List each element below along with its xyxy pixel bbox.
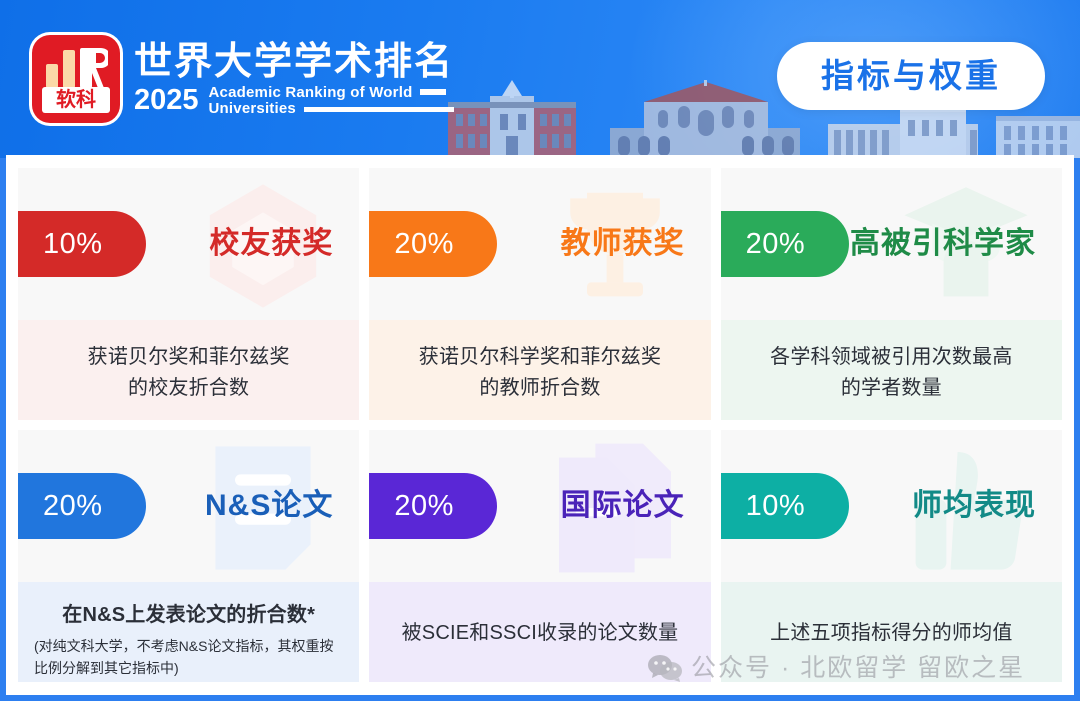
card-description: 各学科领域被引用次数最高 的学者数量 [770,342,1012,404]
weight-pill: 10% [18,211,146,277]
card-description-area: 各学科领域被引用次数最高 的学者数量 [721,320,1062,420]
indicator-card-faculty-award[interactable]: 20% 教师获奖 获诺贝尔科学奖和菲尔兹奖 的教师折合数 [369,168,710,420]
weight-pill: 20% [721,211,849,277]
card-header: 20% 高被引科学家 [721,168,1062,320]
card-description: 获诺贝尔奖和菲尔兹奖 的校友折合数 [88,342,290,404]
bottom-edge [0,695,1080,701]
logo-cn-text: 软科 [42,87,110,113]
card-description-area: 在N&S上发表论文的折合数* (对纯文科大学，不考虑N&S论文指标，其权重按比例… [18,582,359,682]
card-title: 教师获奖 [561,226,685,262]
brand-subtitle-line1: Academic Ranking of World [209,84,413,101]
card-description-area: 获诺贝尔科学奖和菲尔兹奖 的教师折合数 [369,320,710,420]
content-panel: 10% 校友获奖 获诺贝尔奖和菲尔兹奖 的校友折合数 20% [6,155,1074,695]
indicator-card-highly-cited[interactable]: 20% 高被引科学家 各学科领域被引用次数最高 的学者数量 [721,168,1062,420]
card-title: 高被引科学家 [850,226,1036,262]
brand-title-cn: 世界大学学术排名 [134,41,454,83]
card-header: 10% 校友获奖 [18,168,359,320]
weight-pill: 20% [369,211,497,277]
card-description-area: 获诺贝尔奖和菲尔兹奖 的校友折合数 [18,320,359,420]
card-description-area: 上述五项指标得分的师均值 [721,582,1062,682]
card-description: 在N&S上发表论文的折合数* [62,600,315,631]
card-description: 上述五项指标得分的师均值 [770,618,1012,649]
weight-pill: 20% [18,473,146,539]
indicator-card-international-papers[interactable]: 20% 国际论文 被SCIE和SSCI收录的论文数量 [369,430,710,682]
ruanke-logo-icon: 软科 [32,35,120,123]
brand-lockup: 软科 世界大学学术排名 2025 Academic Ranking of Wor… [32,35,454,123]
card-title: 校友获奖 [209,226,333,262]
card-header: 20% 国际论文 [369,430,710,582]
card-description: 被SCIE和SSCI收录的论文数量 [402,618,679,649]
card-header: 10% 师均表现 [721,430,1062,582]
logo-letter-r-icon [90,48,108,88]
weight-pill: 10% [721,473,849,539]
brand-subtitle-line2: Universities [209,101,296,117]
logo-bars-icon [46,48,92,88]
rule-short [420,89,446,95]
rule-long [304,107,454,112]
indicator-grid: 10% 校友获奖 获诺贝尔奖和菲尔兹奖 的校友折合数 20% [18,168,1062,682]
card-header: 20% 教师获奖 [369,168,710,320]
card-title: 国际论文 [561,488,685,524]
card-footnote: (对纯文科大学，不考虑N&S论文指标，其权重按比例分解到其它指标中) [32,635,345,679]
card-title: 师均表现 [912,488,1036,524]
indicator-card-alumni-award[interactable]: 10% 校友获奖 获诺贝尔奖和菲尔兹奖 的校友折合数 [18,168,359,420]
brand-year: 2025 [134,85,199,115]
card-description: 获诺贝尔科学奖和菲尔兹奖 的教师折合数 [419,342,661,404]
card-header: 20% N&S论文 [18,430,359,582]
weight-pill: 20% [369,473,497,539]
indicator-card-ns-papers[interactable]: 20% N&S论文 在N&S上发表论文的折合数* (对纯文科大学，不考虑N&S论… [18,430,359,682]
card-description-area: 被SCIE和SSCI收录的论文数量 [369,582,710,682]
card-title: N&S论文 [205,488,333,524]
poster-root: 软科 世界大学学术排名 2025 Academic Ranking of Wor… [0,0,1080,701]
page-header: 软科 世界大学学术排名 2025 Academic Ranking of Wor… [0,0,1080,158]
indicator-card-per-capita[interactable]: 10% 师均表现 上述五项指标得分的师均值 [721,430,1062,682]
indicators-weights-badge[interactable]: 指标与权重 [777,42,1045,110]
